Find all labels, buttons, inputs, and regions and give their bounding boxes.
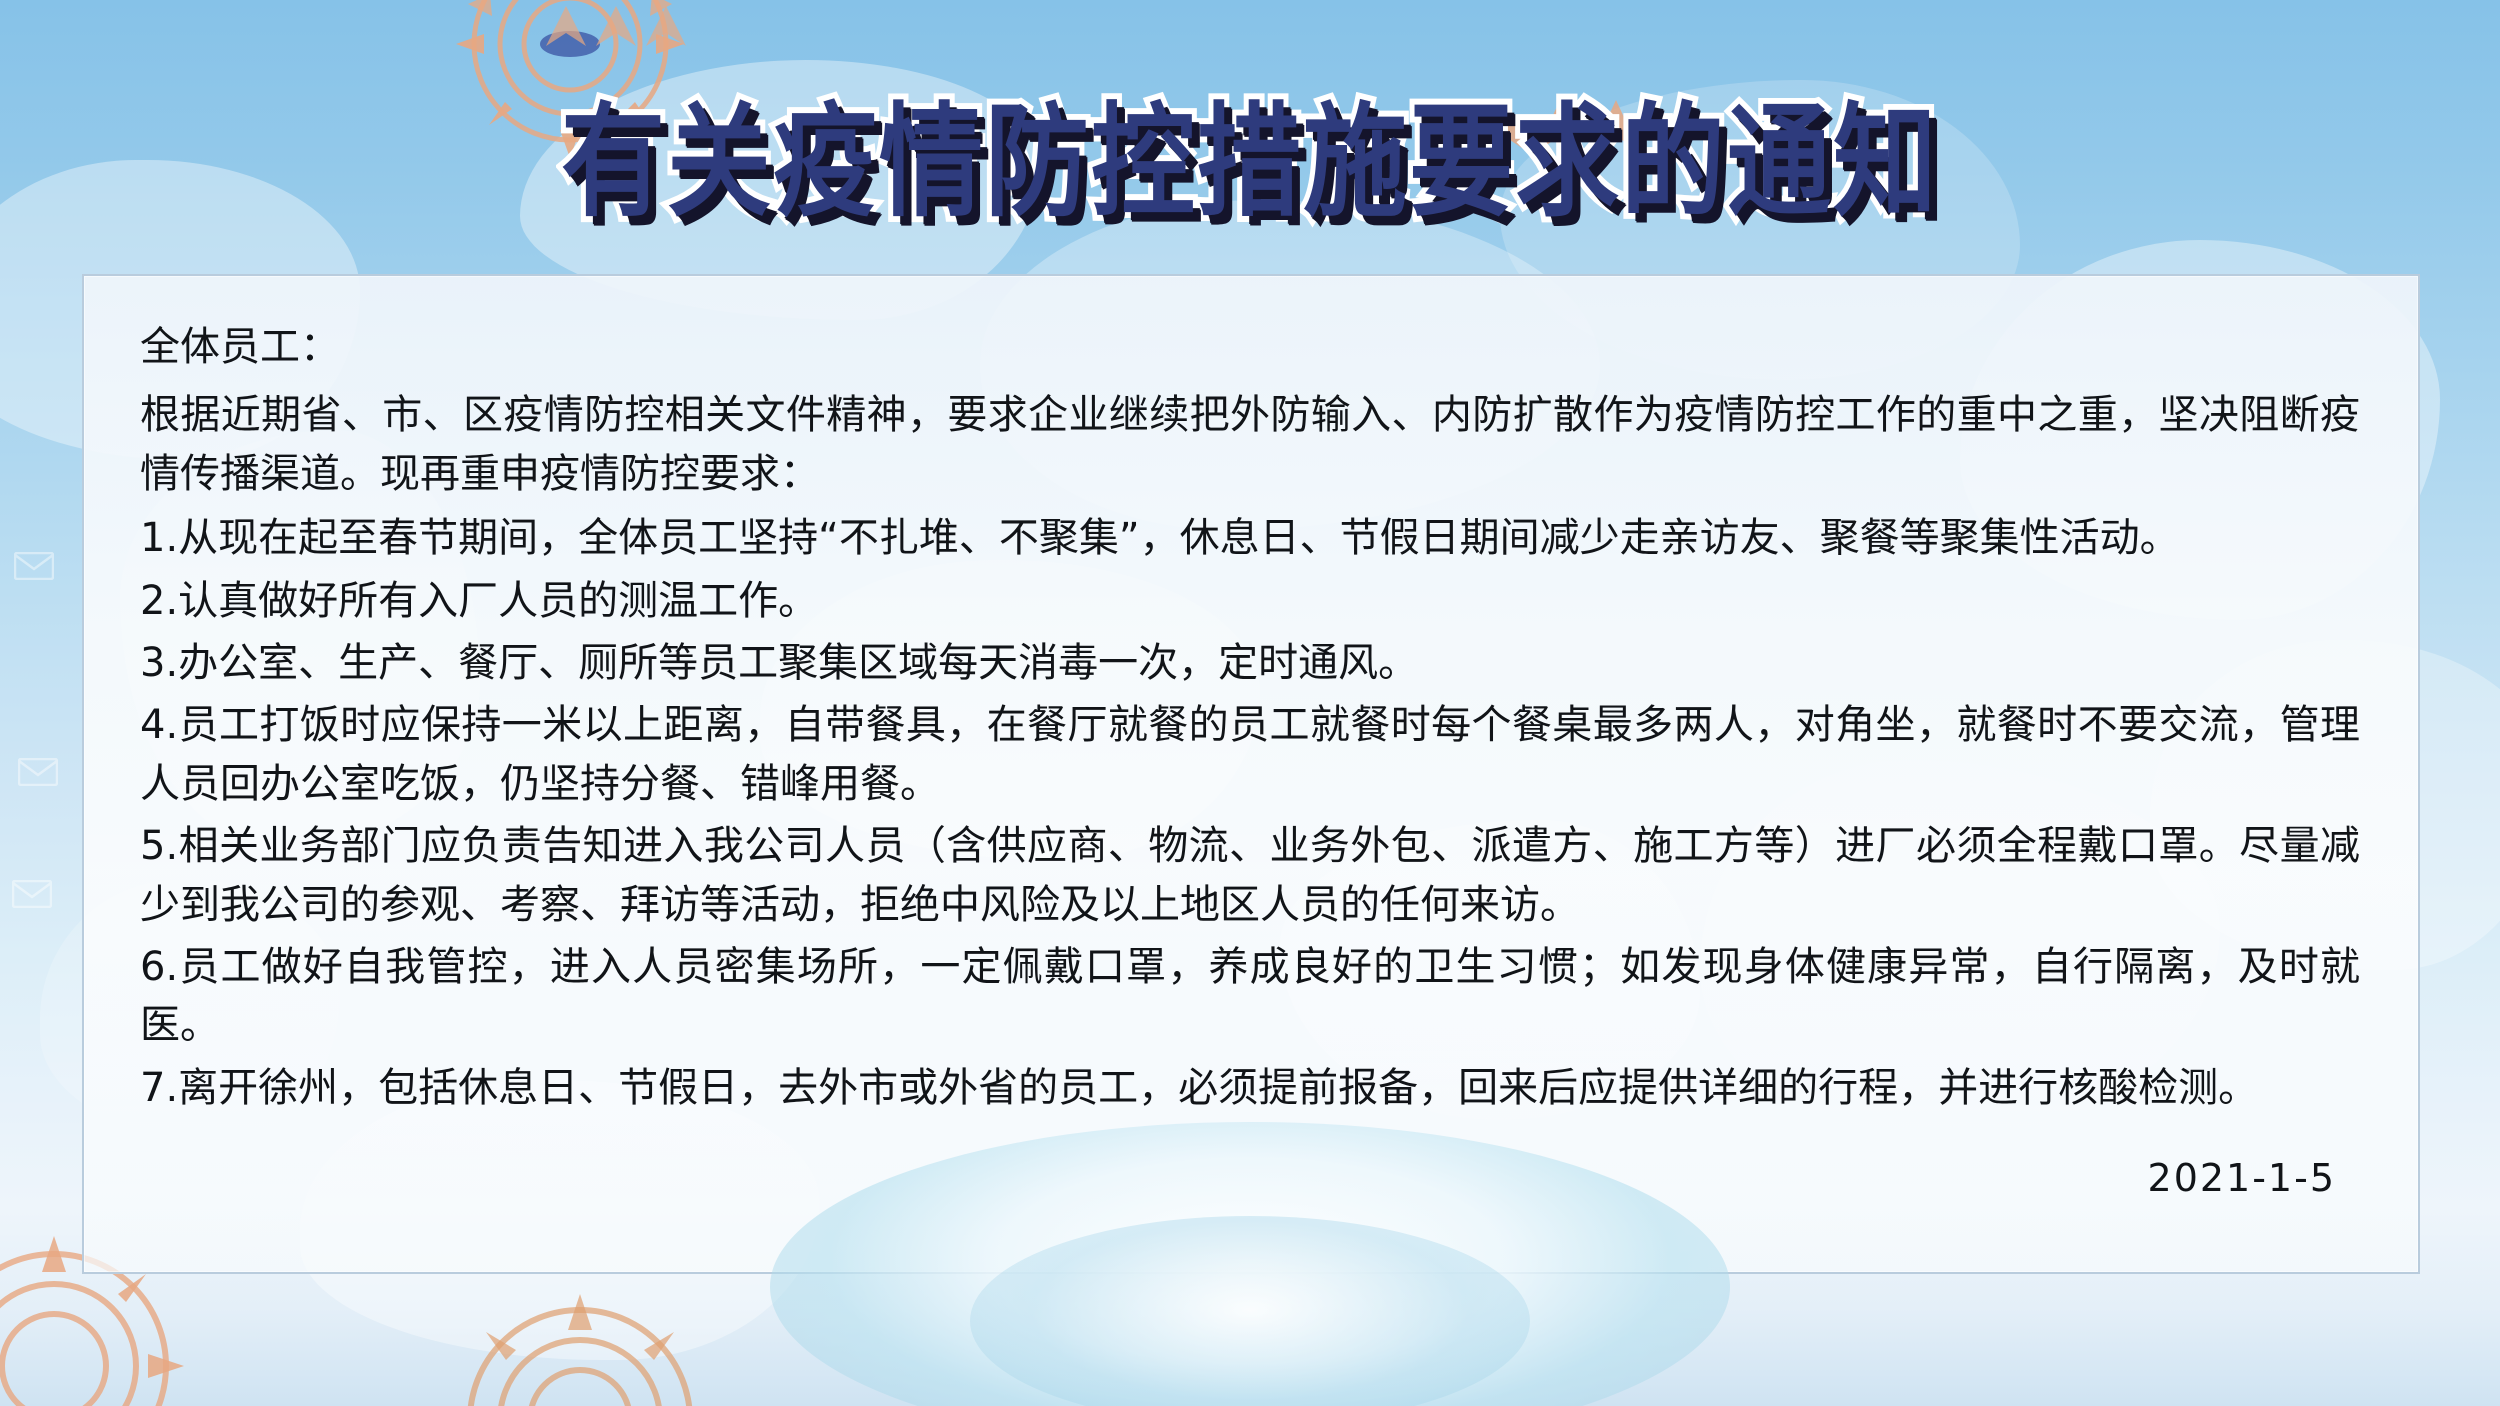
notice-item-1: 1.从现在起至春节期间，全体员工坚持“不扎堆、不聚集”，休息日、节假日期间减少走… (140, 509, 2360, 567)
notice-body: 全体员工： 根据近期省、市、区疫情防控相关文件精神，要求企业继续把外防输入、内防… (140, 318, 2360, 1207)
notice-date: 2021-1-5 (140, 1151, 2360, 1206)
poster-title: 有关疫情防控措施要求的通知 (561, 98, 1939, 227)
poster-canvas: 有关疫情防控措施要求的通知 全体员工： 根据近期省、市、区疫情防控相关文件精神，… (0, 0, 2500, 1406)
notice-item-6: 6.员工做好自我管控，进入人员密集场所，一定佩戴口罩，养成良好的卫生习惯；如发现… (140, 938, 2360, 1055)
notice-item-4: 4.员工打饭时应保持一米以上距离，自带餐具，在餐厅就餐的员工就餐时每个餐桌最多两… (140, 696, 2360, 813)
salutation: 全体员工： (140, 318, 2360, 376)
notice-panel: 全体员工： 根据近期省、市、区疫情防控相关文件精神，要求企业继续把外防输入、内防… (82, 274, 2420, 1274)
envelope-icon (18, 758, 58, 791)
envelope-icon (12, 880, 52, 913)
notice-item-3: 3.办公室、生产、餐厅、厕所等员工聚集区域每天消毒一次，定时通风。 (140, 634, 2360, 692)
notice-item-5: 5.相关业务部门应负责告知进入我公司人员（含供应商、物流、业务外包、派遣方、施工… (140, 817, 2360, 934)
poster-title-container: 有关疫情防控措施要求的通知 (0, 108, 2500, 217)
notice-item-7: 7.离开徐州，包括休息日、节假日，去外市或外省的员工，必须提前报备，回来后应提供… (140, 1059, 2360, 1117)
arrow-ornament-icon (540, 0, 690, 60)
notice-item-2: 2.认真做好所有入厂人员的测温工作。 (140, 572, 2360, 630)
intro-paragraph: 根据近期省、市、区疫情防控相关文件精神，要求企业继续把外防输入、内防扩散作为疫情… (140, 386, 2360, 503)
envelope-icon (14, 552, 54, 585)
